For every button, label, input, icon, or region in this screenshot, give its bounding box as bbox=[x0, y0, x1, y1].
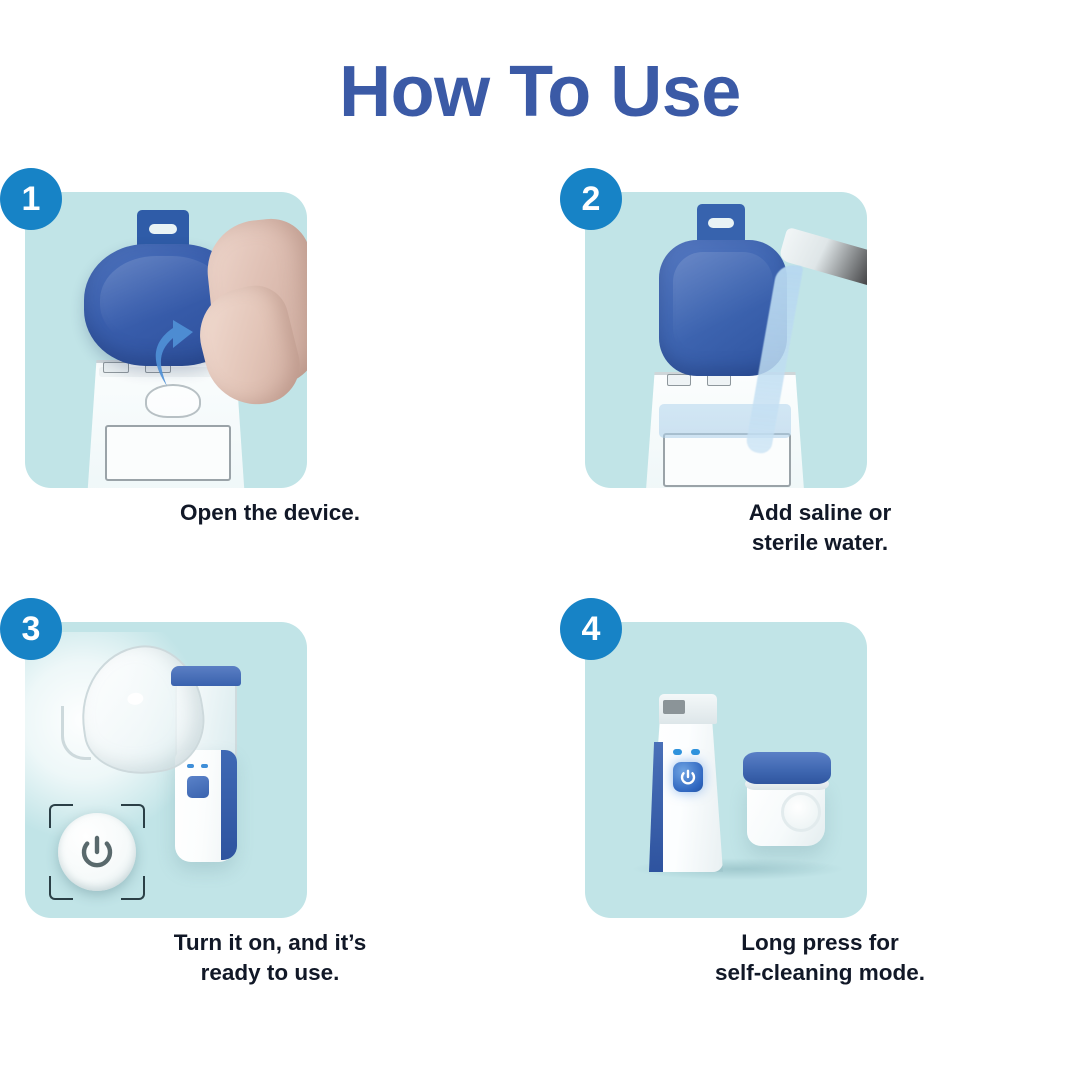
mask-strap-icon bbox=[61, 706, 91, 760]
indicator-led-icon bbox=[673, 749, 682, 755]
step-2-illustration bbox=[585, 192, 867, 488]
step-caption: Turn it on, and it’s ready to use. bbox=[0, 928, 540, 987]
how-to-use-infographic: How To Use 1 Open the device. bbox=[0, 0, 1080, 1080]
hinge-left-icon bbox=[103, 362, 129, 373]
device-power-button-icon bbox=[187, 776, 209, 798]
hinge-left-icon bbox=[667, 374, 691, 386]
step-number-badge: 1 bbox=[0, 168, 62, 230]
handle-stripe-icon bbox=[221, 750, 237, 860]
step-4-illustration bbox=[585, 622, 867, 918]
page-title: How To Use bbox=[0, 56, 1080, 128]
step-1-illustration bbox=[25, 192, 307, 488]
indicator-led-icon bbox=[691, 749, 700, 755]
cup-lid-icon bbox=[171, 666, 241, 686]
step-number-badge: 4 bbox=[560, 598, 622, 660]
up-arrow-icon bbox=[143, 320, 203, 390]
step-number-badge: 3 bbox=[0, 598, 62, 660]
step-caption: Long press for self-cleaning mode. bbox=[560, 928, 1080, 987]
power-button-callout bbox=[49, 804, 145, 900]
indicator-led-icon bbox=[201, 764, 208, 768]
power-icon bbox=[678, 767, 698, 787]
step-caption: Add saline or sterile water. bbox=[560, 498, 1080, 557]
step-card-4: 4 Long press for self-cleaning mode. bbox=[540, 598, 1080, 1028]
handle-stripe-icon bbox=[649, 742, 663, 872]
step-card-3: 3 Turn it on, and it’s ready to use. bbox=[0, 598, 540, 1028]
bracket-bottom-right-icon bbox=[121, 876, 145, 900]
power-button[interactable] bbox=[673, 762, 703, 792]
step-3-illustration bbox=[25, 622, 307, 918]
step-card-1: 1 Open the device. bbox=[0, 168, 540, 598]
indicator-led-icon bbox=[187, 764, 194, 768]
power-icon bbox=[76, 831, 118, 873]
cup-lid-icon bbox=[743, 752, 831, 784]
power-button[interactable] bbox=[58, 813, 136, 891]
cup-mesh-icon bbox=[781, 792, 821, 832]
step-card-2: 2 Add saline or sterile water. bbox=[540, 168, 1080, 598]
step-number-badge: 2 bbox=[560, 168, 622, 230]
steps-grid: 1 Open the device. 2 Add saline or steri… bbox=[0, 168, 1080, 1028]
device-top-vent-icon bbox=[659, 694, 717, 724]
step-caption: Open the device. bbox=[0, 498, 540, 528]
